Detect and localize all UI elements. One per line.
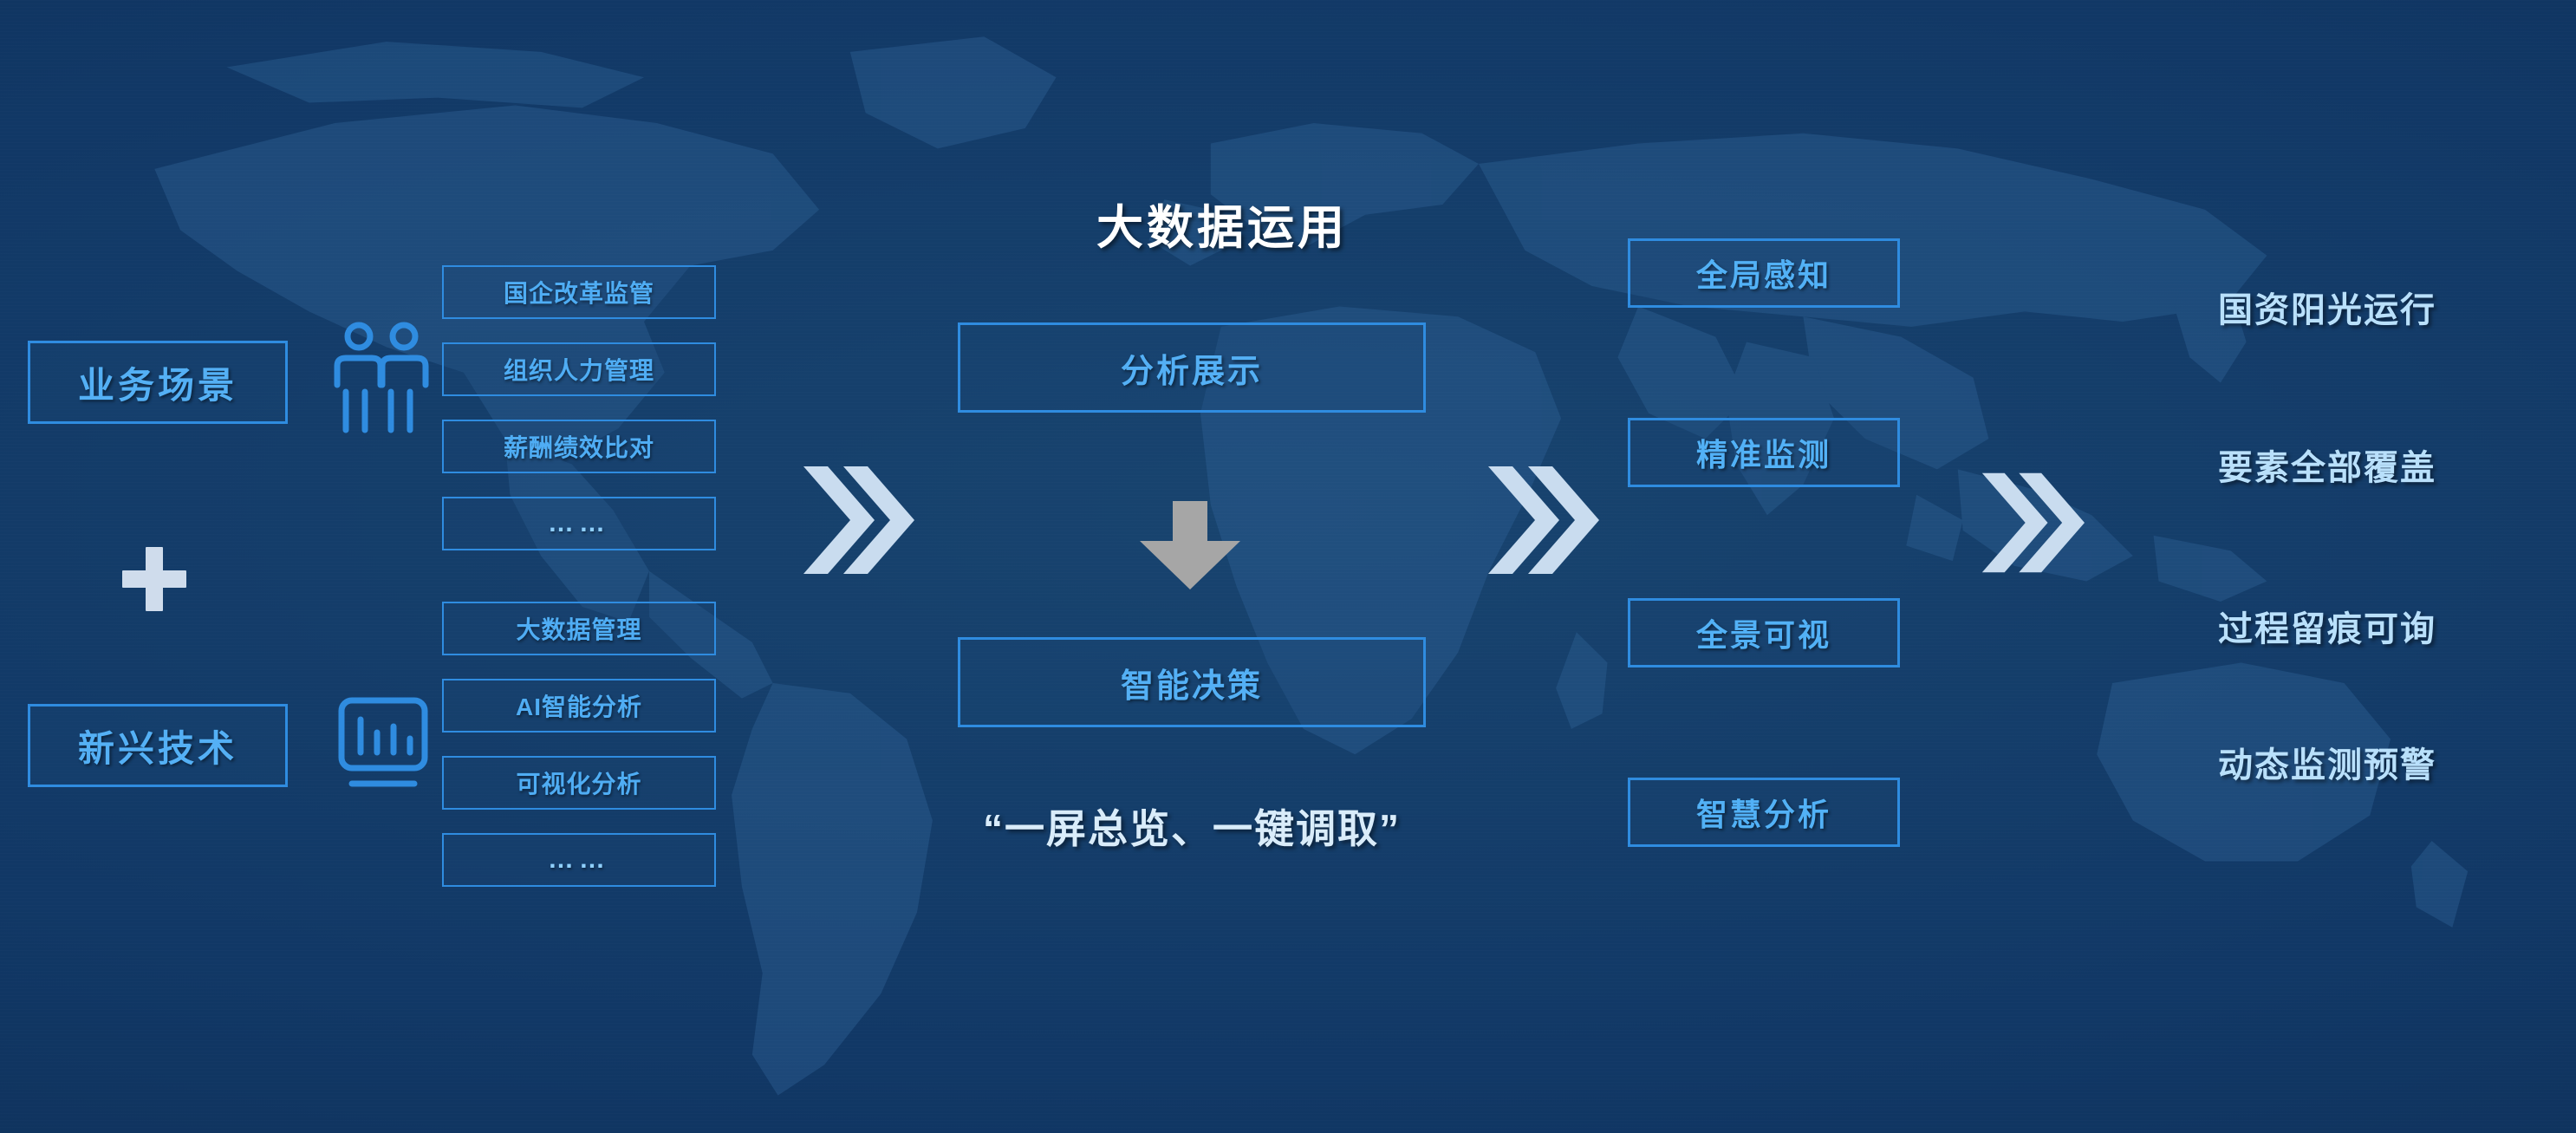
business-tag-label: 薪酬绩效比对 — [504, 429, 654, 464]
business-tag-item[interactable]: 组织人力管理 — [442, 342, 716, 396]
outcome-label: 要素全部覆盖 — [2218, 449, 2436, 487]
double-chevron-right-icon — [1486, 459, 1599, 581]
outcome-label: 国资阳光运行 — [2218, 291, 2436, 329]
double-chevron-right-icon — [802, 459, 914, 581]
input-box-emerging-tech[interactable]: 新兴技术 — [28, 704, 288, 787]
double-chevron-right-icon — [1981, 466, 2085, 579]
arrow-down-icon — [1138, 501, 1242, 591]
capability-box[interactable]: 精准监测 — [1628, 418, 1900, 487]
slogan-text: “一屏总览、一键调取” — [910, 798, 1473, 855]
business-tag-item[interactable]: 国企改革监管 — [442, 265, 716, 319]
plus-symbol — [76, 510, 232, 648]
page-title: 大数据运用 — [953, 189, 1491, 257]
tech-tag-item[interactable]: AI智能分析 — [442, 679, 716, 733]
outcome-text: 过程留痕可询 — [2184, 601, 2470, 651]
diagram-stage: 业务场景 新兴技术 国企改革监管 — [0, 0, 2576, 1133]
center-box-analysis[interactable]: 分析展示 — [958, 322, 1426, 413]
bar-chart-monitor-icon — [336, 693, 430, 796]
capability-label: 全局感知 — [1696, 251, 1831, 296]
center-box-decision[interactable]: 智能决策 — [958, 637, 1426, 727]
input-box-business-scenario[interactable]: 业务场景 — [28, 341, 288, 424]
tech-tag-item[interactable]: 大数据管理 — [442, 602, 716, 655]
tech-tag-label: 大数据管理 — [516, 611, 641, 646]
business-tag-label: 国企改革监管 — [504, 275, 654, 309]
tech-tag-label: AI智能分析 — [516, 688, 642, 723]
capability-label: 全景可视 — [1696, 610, 1831, 655]
tech-tag-label: 可视化分析 — [516, 765, 641, 800]
outcome-text: 要素全部覆盖 — [2184, 440, 2470, 490]
capability-label: 智慧分析 — [1696, 790, 1831, 835]
tech-tag-label: …… — [548, 845, 610, 875]
center-box-decision-label: 智能决策 — [1121, 659, 1263, 706]
capability-box[interactable]: 全景可视 — [1628, 598, 1900, 667]
tech-tag-item[interactable]: 可视化分析 — [442, 756, 716, 810]
outcome-text: 国资阳光运行 — [2184, 282, 2470, 332]
input-box-business-scenario-label: 业务场景 — [78, 356, 237, 409]
outcome-label: 动态监测预警 — [2218, 746, 2436, 785]
center-box-analysis-label: 分析展示 — [1121, 344, 1263, 392]
tech-tag-item-ellipsis[interactable]: …… — [442, 833, 716, 887]
business-tag-item[interactable]: 薪酬绩效比对 — [442, 420, 716, 473]
plus-vertical-bar — [146, 547, 163, 611]
outcome-text: 动态监测预警 — [2184, 737, 2470, 787]
people-icon — [329, 321, 433, 446]
capability-label: 精准监测 — [1696, 430, 1831, 475]
input-box-emerging-tech-label: 新兴技术 — [78, 720, 237, 772]
business-tag-item-ellipsis[interactable]: …… — [442, 497, 716, 550]
outcome-label: 过程留痕可询 — [2218, 610, 2436, 648]
page-title-label: 大数据运用 — [1096, 202, 1348, 254]
capability-box[interactable]: 智慧分析 — [1628, 778, 1900, 847]
slogan-label: “一屏总览、一键调取” — [983, 806, 1401, 851]
business-tag-label: …… — [548, 509, 610, 538]
capability-box[interactable]: 全局感知 — [1628, 238, 1900, 308]
business-tag-label: 组织人力管理 — [504, 352, 654, 387]
